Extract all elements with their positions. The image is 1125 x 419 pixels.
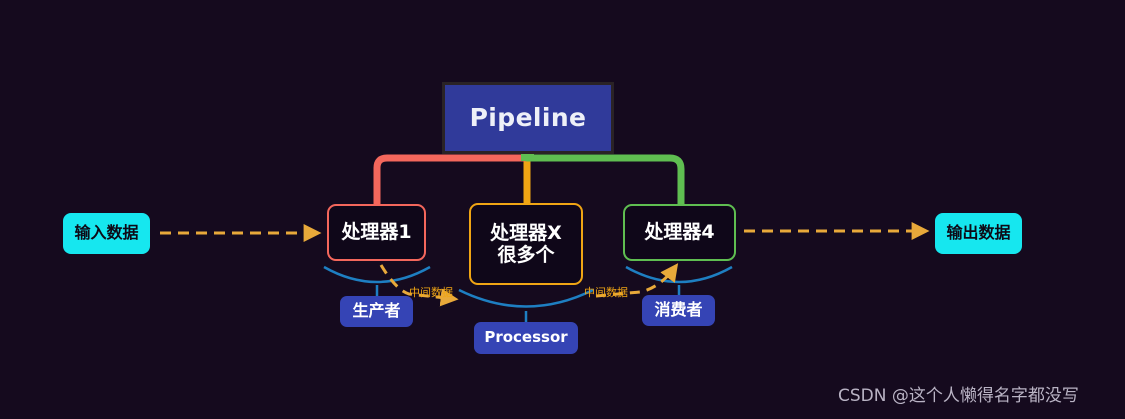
node-processor-4[interactable]: 处理器4 — [623, 204, 736, 261]
label-processor[interactable]: Processor — [474, 322, 578, 354]
brace-consumer — [626, 267, 732, 282]
node-output-data[interactable]: 输出数据 — [935, 213, 1022, 254]
node-processor-1[interactable]: 处理器1 — [327, 204, 426, 261]
processor-x-line2: 很多个 — [497, 244, 554, 266]
label-consumer[interactable]: 消费者 — [642, 295, 715, 326]
connector-pipeline-to-processor4 — [527, 158, 681, 204]
processor-x-line1: 处理器X — [490, 222, 562, 244]
watermark: CSDN @这个人懒得名字都没写 — [838, 381, 1079, 406]
label-producer[interactable]: 生产者 — [340, 296, 413, 327]
pipeline-title-box[interactable]: Pipeline — [442, 82, 614, 154]
diagram-canvas: Pipeline 输入数据 输出数据 处理器1 处理器X 很多个 处理器4 生产… — [0, 0, 1125, 419]
node-processor-x[interactable]: 处理器X 很多个 — [469, 203, 583, 285]
brace-producer — [324, 267, 430, 282]
edge-label-intermediate-right: 中间数据 — [584, 287, 628, 298]
connector-pipeline-to-processor1 — [377, 158, 527, 204]
node-input-data[interactable]: 输入数据 — [63, 213, 150, 254]
edge-label-intermediate-left: 中间数据 — [409, 287, 453, 298]
brace-processor — [459, 290, 593, 307]
